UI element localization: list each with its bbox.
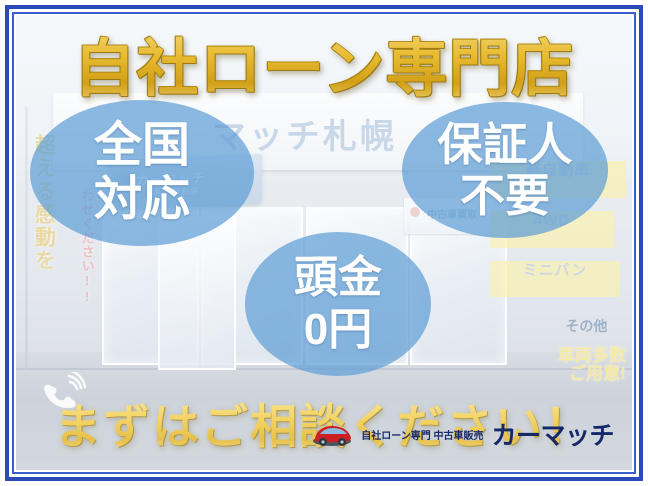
feature-bubble-zero-downpayment-line1: 頭金 [294,256,382,300]
headline-title: 自社ローン専門店 [16,18,632,108]
stock-availability-text: 車両多数 ご用意! [558,347,626,383]
feature-bubble-nationwide-line1: 全国 [94,122,190,170]
stock-line-2: ご用意! [558,365,626,383]
stock-line-1: 車両多数 [558,347,626,365]
brand-tagline: 自社ローン専門 中古車販売 [361,427,483,442]
brand-logo-lockup: 自社ローン専門 中古車販売 カーマッチ [311,416,614,452]
advertisement-banner: マッチ札幌 カーマッチ 札幌白石店 中古車買取 軽自動車 4WD ミニバン その… [0,0,648,486]
category-panel-other: その他 [565,316,607,336]
storefront-photo: マッチ札幌 カーマッチ 札幌白石店 中古車買取 軽自動車 4WD ミニバン その… [16,16,632,470]
feature-bubble-nationwide: 全国 対応 [30,100,254,246]
feature-bubble-no-guarantor-line1: 保証人 [437,122,572,167]
feature-bubble-nationwide-line2: 対応 [94,176,190,224]
red-car-icon [311,421,353,447]
feature-bubble-zero-downpayment-line2: 0円 [304,308,372,352]
category-panel-minivan: ミニバン [490,261,619,297]
brand-wordmark: カーマッチ [491,416,614,452]
feature-bubble-no-guarantor-line2: 不要 [460,173,550,218]
buyback-sign-icon [410,207,420,217]
feature-bubble-no-guarantor: 保証人 不要 [402,102,608,238]
feature-bubble-zero-downpayment: 頭金 0円 [245,232,431,376]
